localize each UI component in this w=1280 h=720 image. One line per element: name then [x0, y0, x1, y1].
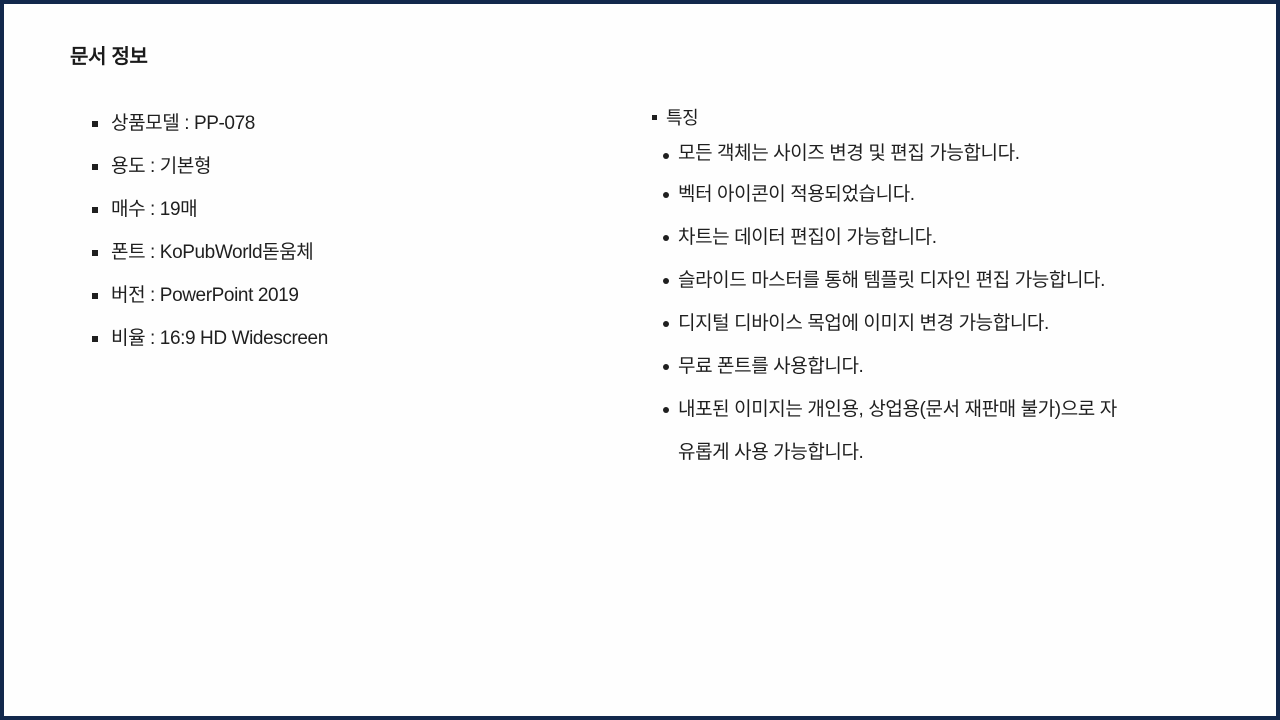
list-item-label: 모든 객체는 사이즈 변경 및 편집 가능합니다. — [678, 143, 1020, 164]
list-item: 버전 : PowerPoint 2019 — [92, 274, 612, 317]
list-item: 차트는 데이터 편집이 가능합니다. — [652, 216, 1212, 259]
list-item-label: 슬라이드 마스터를 통해 템플릿 디자인 편집 가능합니다. — [678, 270, 1105, 291]
list-item: 디지털 디바이스 목업에 이미지 변경 가능합니다. — [652, 302, 1212, 345]
round-bullet-icon — [663, 235, 669, 241]
list-item: 슬라이드 마스터를 통해 템플릿 디자인 편집 가능합니다. — [652, 259, 1212, 302]
round-bullet-icon — [663, 192, 669, 198]
list-item-label: 매수 : 19매 — [111, 199, 197, 220]
square-bullet-icon — [92, 207, 98, 213]
list-item-label: 내포된 이미지는 개인용, 상업용(문서 재판매 불가)으로 자 — [678, 388, 1212, 431]
list-item-label: 무료 폰트를 사용합니다. — [678, 356, 863, 377]
list-item-label: 디지털 디바이스 목업에 이미지 변경 가능합니다. — [678, 313, 1049, 334]
list-item: 내포된 이미지는 개인용, 상업용(문서 재판매 불가)으로 자 유롭게 사용 … — [652, 388, 1212, 474]
square-bullet-icon — [92, 293, 98, 299]
round-bullet-icon — [663, 407, 669, 413]
slide-canvas: 문서 정보 상품모델 : PP-078 용도 : 기본형 매수 : 19매 폰트… — [0, 0, 1280, 720]
list-item-label: 차트는 데이터 편집이 가능합니다. — [678, 227, 937, 248]
round-bullet-icon — [663, 321, 669, 327]
features-heading: 특징 — [652, 102, 1212, 134]
square-bullet-icon — [652, 115, 657, 120]
list-item: 매수 : 19매 — [92, 188, 612, 231]
list-item: 폰트 : KoPubWorld돋움체 — [92, 231, 612, 274]
round-bullet-icon — [663, 278, 669, 284]
square-bullet-icon — [92, 121, 98, 127]
document-info-list: 상품모델 : PP-078 용도 : 기본형 매수 : 19매 폰트 : KoP… — [92, 102, 612, 360]
square-bullet-icon — [92, 250, 98, 256]
list-item-label: 비율 : 16:9 HD Widescreen — [111, 328, 328, 349]
page-title: 문서 정보 — [70, 40, 148, 69]
features-column: 특징 모든 객체는 사이즈 변경 및 편집 가능합니다. 벡터 아이콘이 적용되… — [652, 102, 1212, 474]
features-heading-label: 특징 — [666, 108, 698, 128]
list-item: 상품모델 : PP-078 — [92, 102, 612, 145]
list-item-label-continued: 유롭게 사용 가능합니다. — [678, 431, 1212, 474]
list-item-label: 버전 : PowerPoint 2019 — [111, 285, 299, 306]
list-item-label: 폰트 : KoPubWorld돋움체 — [111, 242, 313, 263]
list-item: 용도 : 기본형 — [92, 145, 612, 188]
list-item-label: 벡터 아이콘이 적용되었습니다. — [678, 184, 915, 205]
document-info-column: 상품모델 : PP-078 용도 : 기본형 매수 : 19매 폰트 : KoP… — [92, 102, 612, 360]
features-list: 특징 모든 객체는 사이즈 변경 및 편집 가능합니다. 벡터 아이콘이 적용되… — [652, 102, 1212, 474]
list-item: 무료 폰트를 사용합니다. — [652, 345, 1212, 388]
list-item-label: 상품모델 : PP-078 — [111, 113, 255, 134]
square-bullet-icon — [92, 164, 98, 170]
list-item: 벡터 아이콘이 적용되었습니다. — [652, 173, 1212, 216]
round-bullet-icon — [663, 153, 669, 159]
list-item: 비율 : 16:9 HD Widescreen — [92, 317, 612, 360]
round-bullet-icon — [663, 364, 669, 370]
list-item-label: 용도 : 기본형 — [111, 156, 211, 177]
square-bullet-icon — [92, 336, 98, 342]
list-item: 모든 객체는 사이즈 변경 및 편집 가능합니다. — [652, 134, 1212, 173]
